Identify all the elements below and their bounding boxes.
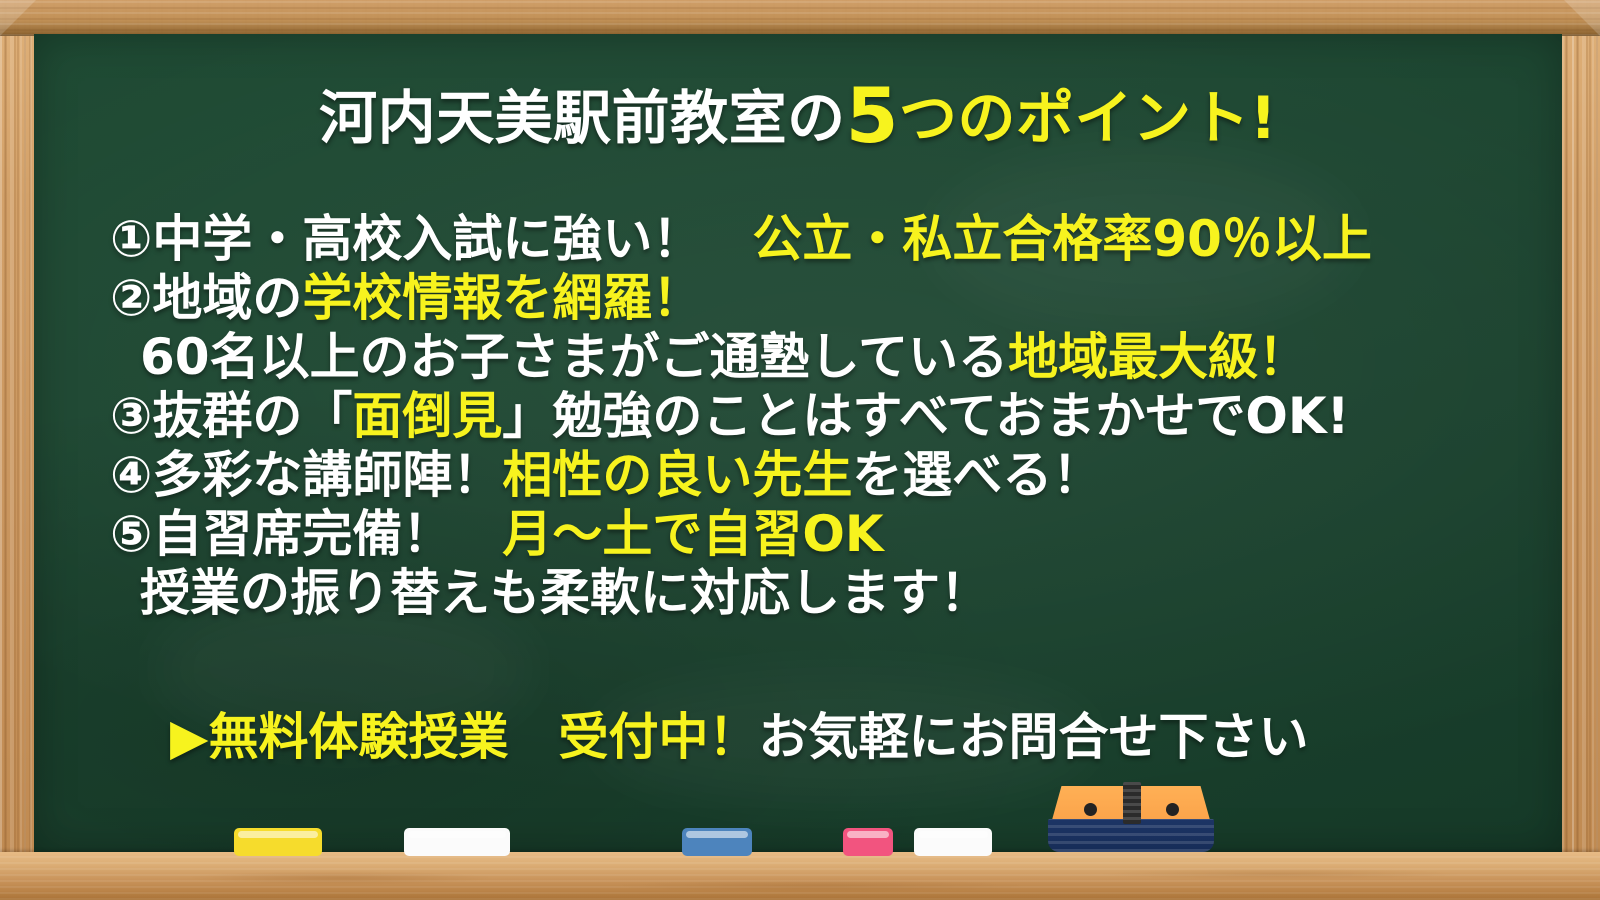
point-1-segment-1: ①中学・高校入試に強い！ bbox=[110, 210, 752, 268]
point-2-detail-segment-1: 60名以上のお子さまがご通塾している bbox=[140, 328, 1008, 386]
frame-left-edge bbox=[0, 0, 34, 900]
point-2: ②地域の学校情報を網羅！ bbox=[34, 273, 1562, 332]
eraser-handle bbox=[1123, 782, 1141, 824]
point-4-segment-2: 相性の良い先生 bbox=[502, 446, 852, 504]
chalk-blue[interactable] bbox=[682, 828, 752, 856]
eraser-screw-right bbox=[1166, 803, 1179, 816]
title-number: 5 bbox=[846, 71, 899, 160]
frame-right-edge bbox=[1562, 0, 1600, 900]
title-yellow-part: つのポイント! bbox=[899, 84, 1277, 152]
point-3: ③抜群の「面倒見」勉強のことはすべておまかせでOK! bbox=[34, 391, 1562, 450]
chalk-highlight bbox=[918, 831, 988, 838]
point-1-segment-2: 公立・私立合格率90％以上 bbox=[752, 210, 1372, 268]
point-2-segment-1: ②地域の bbox=[110, 269, 302, 327]
point-5-segment-2: 月〜土で自習OK bbox=[502, 505, 883, 563]
points-list: ①中学・高校入試に強い！ 公立・私立合格率90％以上②地域の学校情報を網羅！60… bbox=[34, 214, 1562, 627]
point-4-segment-1: ④多彩な講師陣！ bbox=[110, 446, 502, 504]
chalk-highlight bbox=[847, 831, 889, 838]
chalk-white-2[interactable] bbox=[914, 828, 992, 856]
point-2-detail-segment-2: 地域最大級！ bbox=[1008, 328, 1308, 386]
chalk-white-1[interactable] bbox=[404, 828, 510, 856]
point-5-detail-segment-1: 授業の振り替えも柔軟に対応します！ bbox=[140, 564, 990, 622]
chalk-highlight bbox=[408, 831, 506, 838]
point-5-detail: 授業の振り替えも柔軟に対応します！ bbox=[34, 568, 1562, 627]
chalk-ledge bbox=[0, 852, 1600, 900]
chalk-highlight bbox=[238, 831, 318, 838]
point-3-segment-2: 面倒見 bbox=[352, 387, 502, 445]
point-5: ⑤自習席完備！ 月〜土で自習OK bbox=[34, 509, 1562, 568]
point-3-segment-1: ③抜群の「 bbox=[110, 387, 352, 445]
frame-top-grain bbox=[0, 0, 1600, 36]
point-3-segment-3: 」勉強のことはすべておまかせでOK! bbox=[502, 387, 1349, 445]
chalkboard-poster: 河内天美駅前教室の5つのポイント! ①中学・高校入試に強い！ 公立・私立合格率9… bbox=[0, 0, 1600, 900]
title-white-part: 河内天美駅前教室の bbox=[319, 84, 846, 152]
cta-segment-1: ▶無料体験授業 受付中！ bbox=[170, 708, 758, 766]
cta-segment-2: お気軽にお問合せ下さい bbox=[758, 708, 1308, 766]
point-1: ①中学・高校入試に強い！ 公立・私立合格率90％以上 bbox=[34, 214, 1562, 273]
blackboard-eraser[interactable] bbox=[1048, 786, 1214, 852]
cta-footer: ▶無料体験授業 受付中！お気軽にお問合せ下さい bbox=[34, 712, 1600, 762]
point-5-segment-1: ⑤自習席完備！ bbox=[110, 505, 502, 563]
point-2-detail: 60名以上のお子さまがご通塾している地域最大級！ bbox=[34, 332, 1562, 391]
eraser-screw-left bbox=[1084, 803, 1097, 816]
chalk-yellow[interactable] bbox=[234, 828, 322, 856]
chalk-highlight bbox=[686, 831, 748, 838]
page-title: 河内天美駅前教室の5つのポイント! bbox=[34, 86, 1562, 147]
point-2-segment-2: 学校情報を網羅！ bbox=[302, 269, 702, 327]
point-4: ④多彩な講師陣！相性の良い先生を選べる！ bbox=[34, 450, 1562, 509]
point-4-segment-3: を選べる！ bbox=[852, 446, 1102, 504]
chalk-pink[interactable] bbox=[843, 828, 893, 856]
ledge-wood-grain bbox=[0, 852, 1600, 900]
